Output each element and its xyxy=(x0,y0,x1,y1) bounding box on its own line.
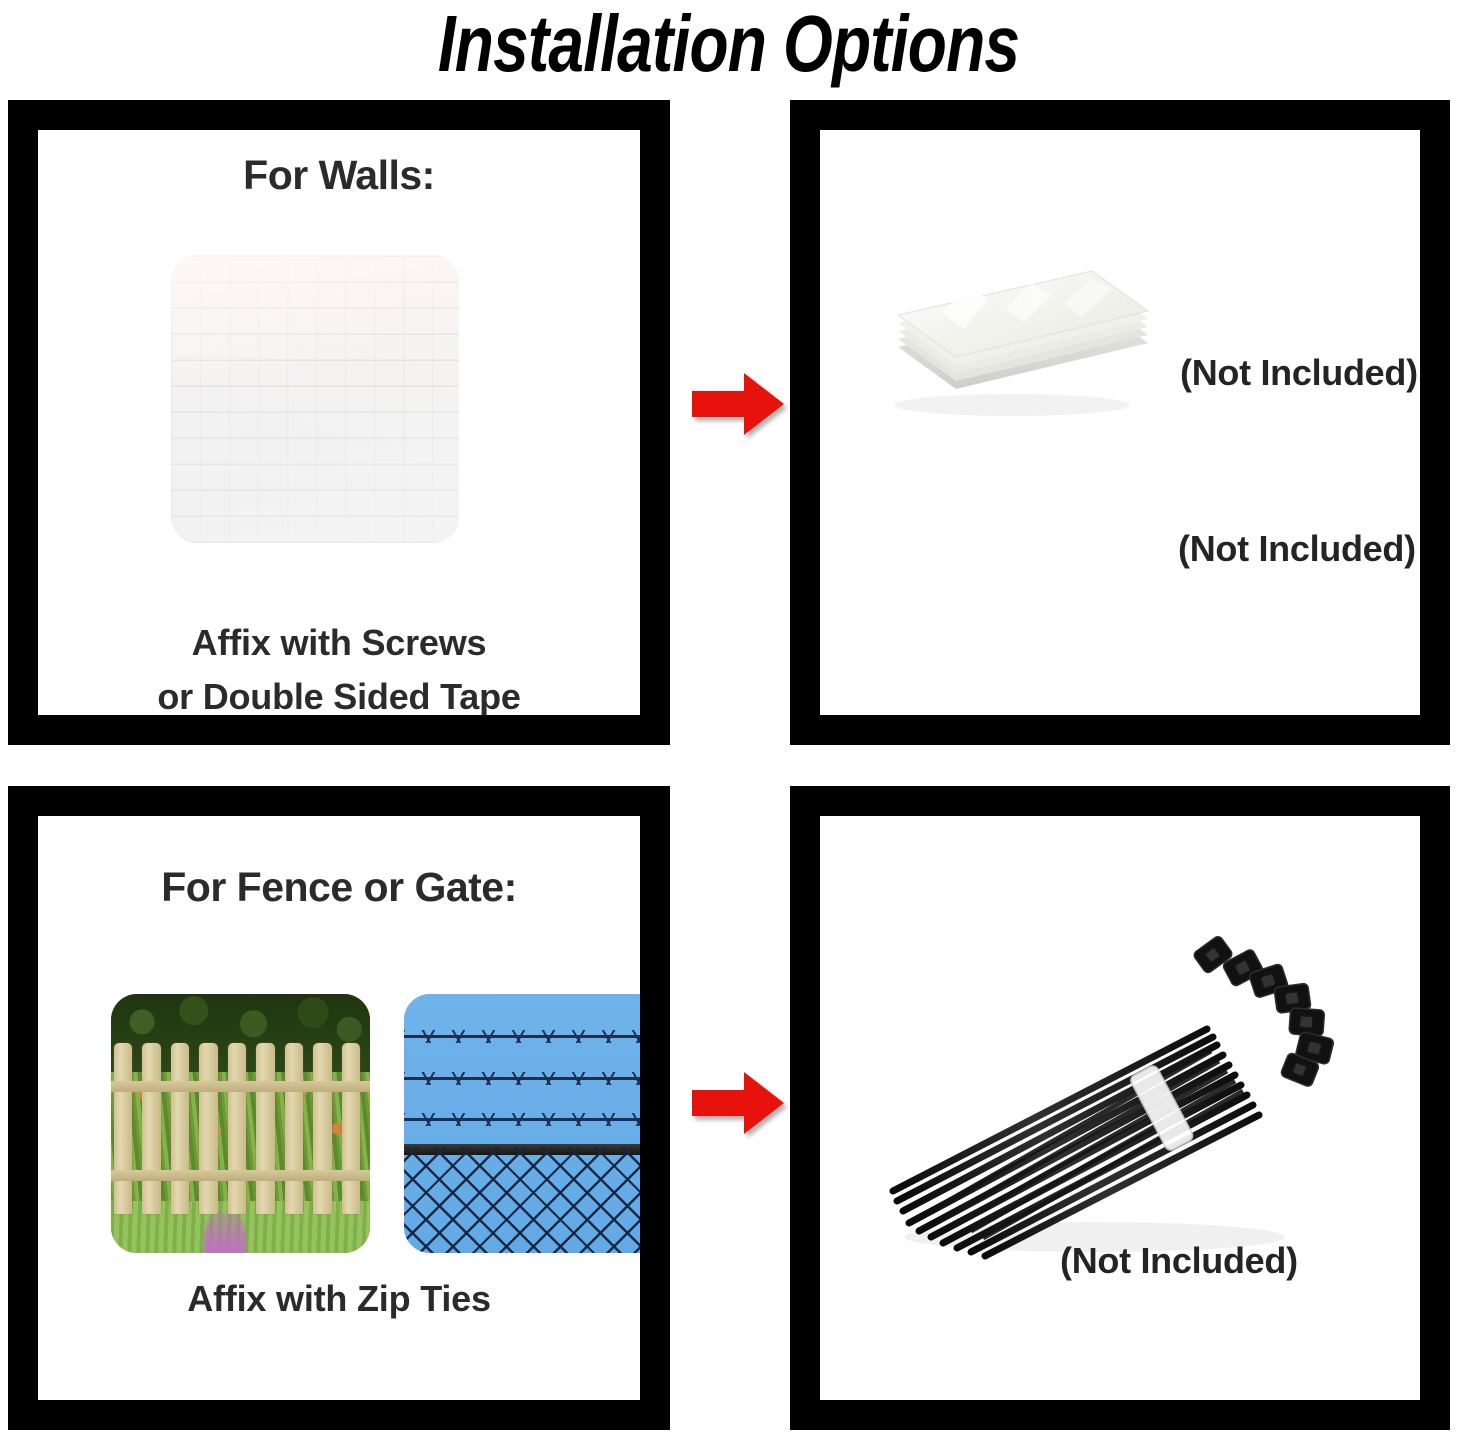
white-brick-wall-photo xyxy=(171,255,459,543)
panel-fence-hardware: (Not Included) xyxy=(790,786,1450,1430)
tape-not-included-label: (Not Included) xyxy=(1180,352,1418,394)
fence-photo-path xyxy=(204,1212,245,1253)
barbed-wire-strand-3 xyxy=(404,1118,640,1121)
affix-with-screws-caption: Affix with Screws xyxy=(38,622,640,664)
chain-link-barbed-wire-fence-photo xyxy=(404,994,640,1253)
panel-for-walls: For Walls: Affix with Screws or Double S… xyxy=(8,100,670,745)
wooden-picket-fence-photo xyxy=(111,994,370,1253)
screws-not-included-label: (Not Included) xyxy=(1178,528,1416,570)
affix-with-zip-ties-caption: Affix with Zip Ties xyxy=(38,1278,640,1320)
double-sided-tape-stack-icon xyxy=(860,239,1160,417)
page-title: Installation Options xyxy=(146,0,1312,92)
panel-wall-hardware: (Not Included) xyxy=(790,100,1450,745)
arrow-right-icon-fence xyxy=(692,1072,784,1134)
panel-for-fence-heading: For Fence or Gate: xyxy=(38,864,640,911)
installation-options-infographic: Installation Options For Walls: Affix wi… xyxy=(0,0,1457,1434)
fence-photo-pickets xyxy=(111,1043,370,1214)
arrow-right-icon-walls xyxy=(692,373,784,435)
chain-link-mesh xyxy=(404,1147,640,1253)
barbed-wire-strand-2 xyxy=(404,1077,640,1080)
double-sided-tape-caption: or Double Sided Tape xyxy=(38,676,640,715)
panel-for-walls-heading: For Walls: xyxy=(38,152,640,199)
panel-for-fence-or-gate: For Fence or Gate: xyxy=(8,786,670,1430)
brick-photo-sheen xyxy=(171,255,459,543)
zip-ties-not-included-label: (Not Included) xyxy=(1060,1240,1298,1282)
barbed-wire-strand-1 xyxy=(404,1035,640,1038)
black-zip-ties-bundle-icon xyxy=(845,905,1345,1265)
